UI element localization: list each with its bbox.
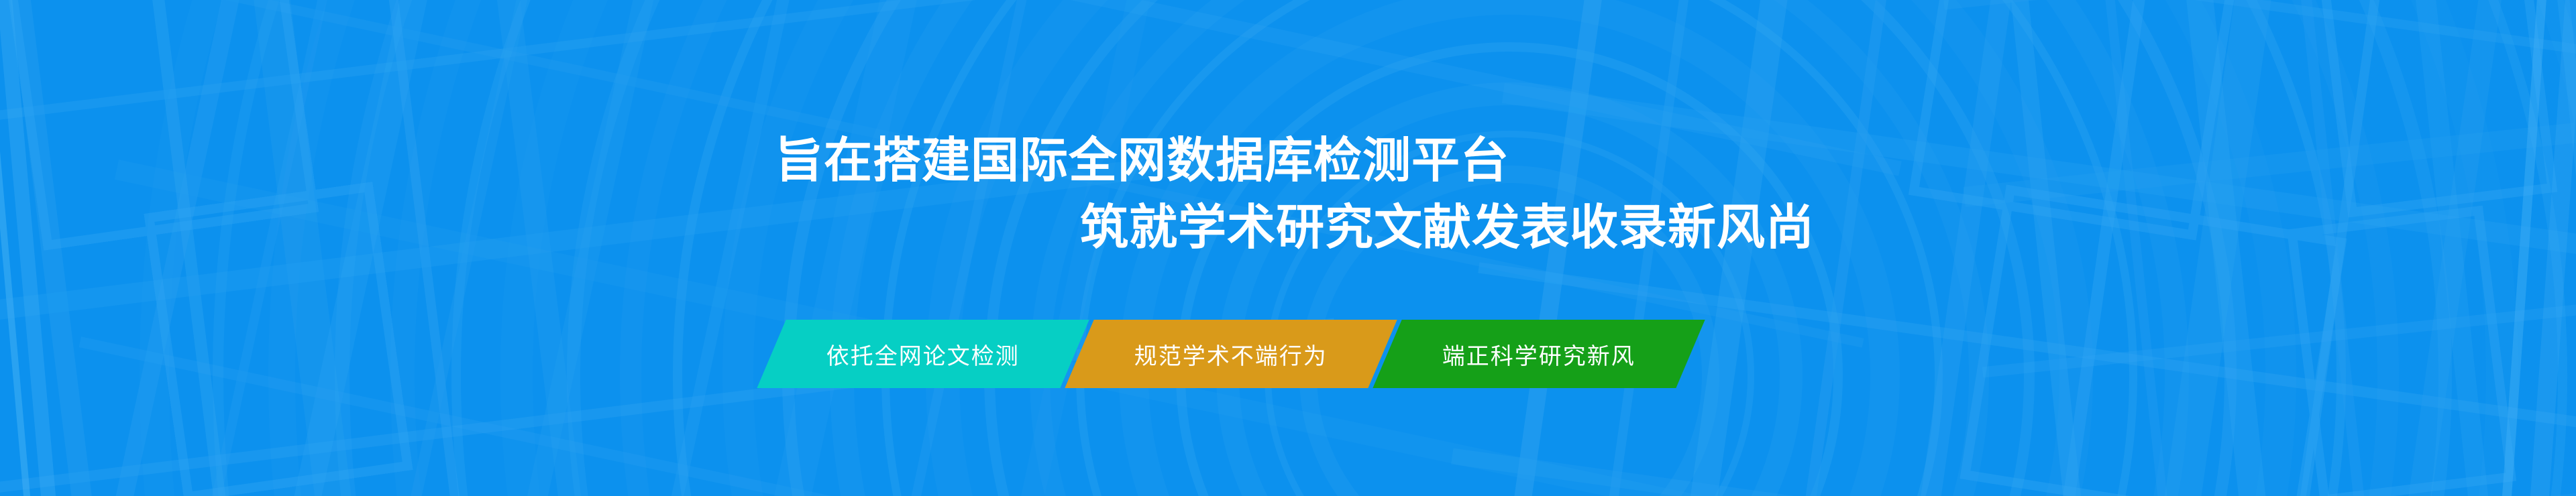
tag-label-2: 规范学术不端行为 [1134, 338, 1328, 371]
tag-label-1: 依托全网论文检测 [826, 338, 1020, 371]
headline-line-1: 旨在搭建国际全网数据库检测平台 [775, 127, 2576, 194]
tag-button-academic-misconduct[interactable]: 规范学术不端行为 [1065, 320, 1397, 388]
tag-row: 依托全网论文检测 规范学术不端行为 端正科学研究新风 [771, 320, 1690, 388]
headline: 旨在搭建国际全网数据库检测平台 筑就学术研究文献发表收录新风尚 [0, 127, 2576, 261]
promo-banner: 旨在搭建国际全网数据库检测平台 筑就学术研究文献发表收录新风尚 依托全网论文检测… [0, 0, 2576, 496]
headline-line-2: 筑就学术研究文献发表收录新风尚 [1080, 194, 2576, 261]
tag-button-research-integrity[interactable]: 端正科学研究新风 [1373, 320, 1705, 388]
tag-label-3: 端正科学研究新风 [1442, 338, 1635, 371]
tag-button-paper-detection[interactable]: 依托全网论文检测 [757, 320, 1089, 388]
